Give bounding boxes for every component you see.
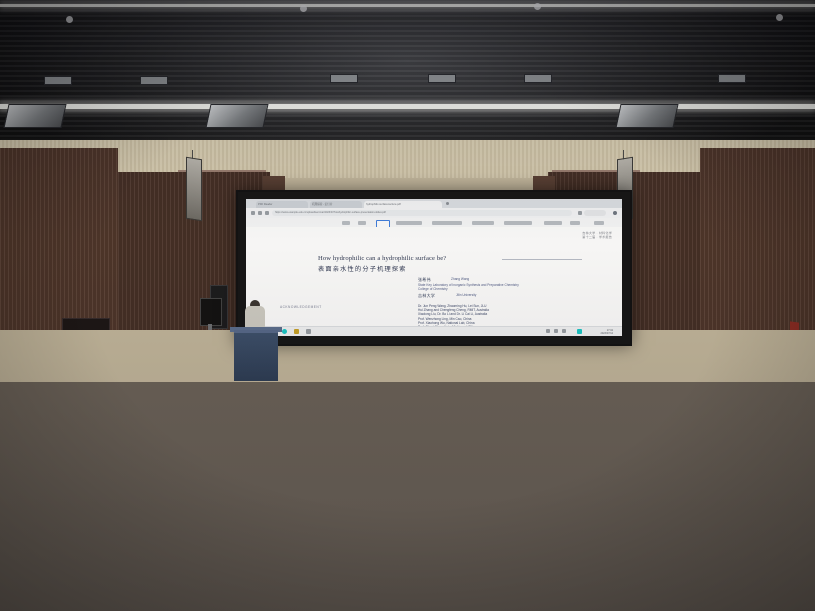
url-input[interactable]: https://www.example.edu.cn/upload/semina… xyxy=(272,210,572,216)
pdf-rotate-control[interactable] xyxy=(472,221,494,225)
screen-content: PDF Reader 机理探索 - 幻灯片 hydrophilic-surfac… xyxy=(246,199,622,336)
forward-arrow-icon[interactable] xyxy=(258,211,262,215)
pdf-annotate-control[interactable] xyxy=(504,221,532,225)
ceiling-led-strip-front xyxy=(0,4,815,7)
ceiling-downlight-icon xyxy=(300,5,307,12)
clock-date: 2023/07/12 xyxy=(600,332,613,335)
sign-in-button[interactable] xyxy=(584,210,606,216)
affiliation-block: State Key Laboratory of Inorganic Synthe… xyxy=(418,283,519,292)
university-en-wrap: Jilin University xyxy=(456,293,476,297)
mail-icon[interactable] xyxy=(306,329,311,334)
browser-tab-1[interactable]: 机理探索 - 幻灯片 xyxy=(310,201,362,208)
input-method-icon[interactable] xyxy=(577,329,582,334)
lecture-hall-photo: PDF Reader 机理探索 - 幻灯片 hydrophilic-surfac… xyxy=(0,0,815,611)
file-explorer-icon[interactable] xyxy=(294,329,299,334)
pdf-select-tool-icon[interactable] xyxy=(358,221,366,225)
university-cn: 吉林大学 xyxy=(418,293,435,299)
pdf-print-icon[interactable] xyxy=(544,221,562,225)
back-arrow-icon[interactable] xyxy=(251,211,255,215)
reload-icon[interactable] xyxy=(265,211,269,215)
stage-monitor-left xyxy=(200,298,222,326)
air-vent-icon xyxy=(140,76,168,85)
pdf-more-icon[interactable] xyxy=(594,221,604,225)
led-video-wall: PDF Reader 机理探索 - 幻灯片 hydrophilic-surfac… xyxy=(236,190,632,346)
hanging-speaker-left xyxy=(186,157,202,222)
corner-note-line-2: 第十二届 · 学术报告 xyxy=(582,235,612,239)
browser-tab-2[interactable]: hydrophilic-surface-lecture.pdf xyxy=(364,201,442,208)
ceiling-shading xyxy=(0,0,815,152)
university-en: Jilin University xyxy=(456,293,476,297)
acknowledgement-label: ACKNOWLEDGEMENT xyxy=(280,305,322,309)
air-vent-icon xyxy=(524,74,552,83)
volume-icon[interactable] xyxy=(562,329,566,333)
university-block: 吉林大学 xyxy=(418,293,435,299)
browser-tab-bar: PDF Reader 机理探索 - 幻灯片 hydrophilic-surfac… xyxy=(246,199,622,208)
url-text: https://www.example.edu.cn/upload/semina… xyxy=(272,210,572,216)
pdf-hand-tool-icon[interactable] xyxy=(342,221,350,225)
air-vent-icon xyxy=(330,74,358,83)
author-name-en-wrap: Zhang Wang xyxy=(451,277,469,281)
network-icon[interactable] xyxy=(554,329,558,333)
ceiling-downlight-icon xyxy=(776,14,783,21)
lectern xyxy=(234,330,278,381)
pdf-slide: 吉林大学 · 材料化学 第十二届 · 学术报告 How hydrophilic … xyxy=(246,227,622,327)
affiliation-line-2: College of Chemistry xyxy=(418,287,519,291)
browser-tab-0[interactable]: PDF Reader xyxy=(256,201,308,208)
ceiling xyxy=(0,0,815,152)
star-icon[interactable] xyxy=(578,211,582,215)
acknowledgement-item: Xiaolong Liu, Dr. Bo Li and Dr. Li Cai L… xyxy=(418,312,489,316)
title-rule xyxy=(502,259,582,260)
pdf-fit-control[interactable] xyxy=(432,221,462,225)
windows-taskbar: 17:02 2023/07/12 xyxy=(246,326,622,336)
slide-subtitle: 表面亲水性的分子机理探索 xyxy=(318,264,407,273)
ceiling-downlight-icon xyxy=(66,16,73,23)
edge-browser-icon[interactable] xyxy=(282,329,287,334)
ceiling-downlight-icon xyxy=(534,3,541,10)
slide-corner-note: 吉林大学 · 材料化学 第十二届 · 学术报告 xyxy=(582,231,612,240)
tray-chevron-icon[interactable] xyxy=(546,329,550,333)
new-tab-icon[interactable] xyxy=(446,202,449,205)
audience-floor xyxy=(0,382,815,611)
ceiling-led-strip-mid xyxy=(0,104,815,109)
air-vent-icon xyxy=(3,104,66,128)
pdf-zoom-control[interactable] xyxy=(396,221,422,225)
air-vent-icon xyxy=(615,104,678,128)
avatar[interactable] xyxy=(613,211,617,215)
slide-title: How hydrophilic can a hydrophilic surfac… xyxy=(318,255,446,262)
air-vent-icon xyxy=(44,76,72,85)
pdf-download-icon[interactable] xyxy=(570,221,580,225)
air-vent-icon xyxy=(428,74,456,83)
taskbar-clock[interactable]: 17:02 2023/07/12 xyxy=(600,329,613,335)
air-vent-icon xyxy=(205,104,268,128)
author-name-en: Zhang Wang xyxy=(451,277,469,281)
air-vent-icon xyxy=(718,74,746,83)
audience-seating-area: China unicom中国联通 沃 · 感 知 世 界 联通5G 让未来生长 xyxy=(0,382,815,611)
